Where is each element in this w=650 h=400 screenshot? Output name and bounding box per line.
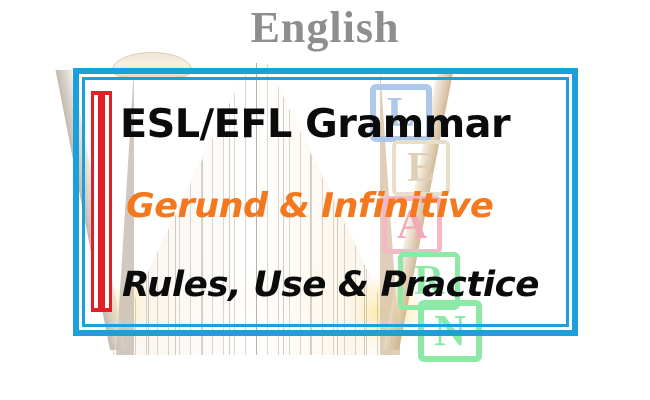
headline-line-1: ESL/EFL Grammar [120,105,579,144]
poster-canvas: L E A R N English ESL/EFL Grammar Gerund… [0,0,650,400]
red-bar-stripe-gap [105,95,109,308]
headline-line-3: Rules, Use & Practice [122,268,579,303]
headline-group: ESL/EFL Grammar Gerund & Infinitive Rule… [118,78,570,326]
red-bar-stripe-gap [94,95,98,308]
headline-line-2: Gerund & Infinitive [126,189,583,223]
kicker-text: English [0,4,650,52]
red-accent-bar [91,91,112,312]
